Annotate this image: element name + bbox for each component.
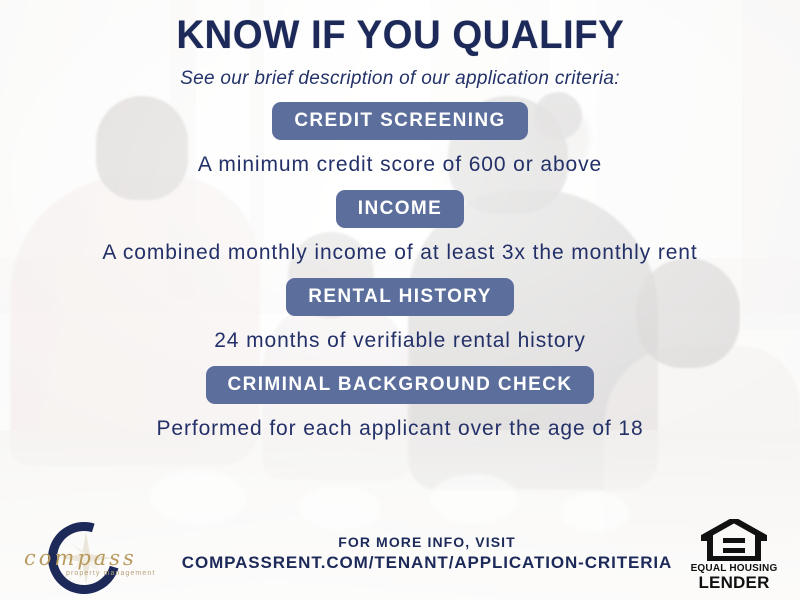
- compass-tagline: property management: [66, 570, 155, 577]
- equal-housing-line1: EQUAL HOUSING: [691, 563, 778, 574]
- page-subtitle: See our brief description of our applica…: [180, 68, 620, 90]
- criterion-credit-screening: CREDIT SCREENING A minimum credit score …: [0, 102, 800, 190]
- criterion-badge-income: INCOME: [336, 190, 464, 228]
- criterion-criminal-background-check: CRIMINAL BACKGROUND CHECK Performed for …: [0, 366, 800, 454]
- equal-housing-line2: LENDER: [698, 574, 769, 592]
- footer-cta-url[interactable]: COMPASSRENT.COM/TENANT/APPLICATION-CRITE…: [172, 552, 682, 575]
- content-area: KNOW IF YOU QUALIFY See our brief descri…: [0, 0, 800, 600]
- criterion-badge-rental-history: RENTAL HISTORY: [286, 278, 514, 316]
- criterion-detail-income: A combined monthly income of at least 3x…: [102, 241, 697, 265]
- criterion-rental-history: RENTAL HISTORY 24 months of verifiable r…: [0, 278, 800, 366]
- criterion-badge-criminal-background-check: CRIMINAL BACKGROUND CHECK: [206, 366, 595, 404]
- equal-housing-house-icon: [701, 519, 767, 561]
- equal-housing-lender-logo: EQUAL HOUSING LENDER: [682, 519, 786, 594]
- criterion-detail-rental-history: 24 months of verifiable rental history: [214, 329, 586, 353]
- criterion-detail-credit-screening: A minimum credit score of 600 or above: [198, 153, 602, 177]
- criterion-detail-criminal-background-check: Performed for each applicant over the ag…: [156, 417, 643, 441]
- page-title: KNOW IF YOU QUALIFY: [176, 14, 624, 56]
- footer-cta: FOR MORE INFO, VISIT COMPASSRENT.COM/TEN…: [172, 533, 682, 579]
- footer: compass property management FOR MORE INF…: [0, 512, 800, 600]
- criterion-badge-credit-screening: CREDIT SCREENING: [272, 102, 527, 140]
- compass-property-management-logo: compass property management: [22, 518, 172, 594]
- compass-wordmark: compass: [24, 546, 170, 570]
- criteria-list: CREDIT SCREENING A minimum credit score …: [0, 102, 800, 454]
- footer-cta-line1: FOR MORE INFO, VISIT: [172, 533, 682, 552]
- criterion-income: INCOME A combined monthly income of at l…: [0, 190, 800, 278]
- poster: KNOW IF YOU QUALIFY See our brief descri…: [0, 0, 800, 600]
